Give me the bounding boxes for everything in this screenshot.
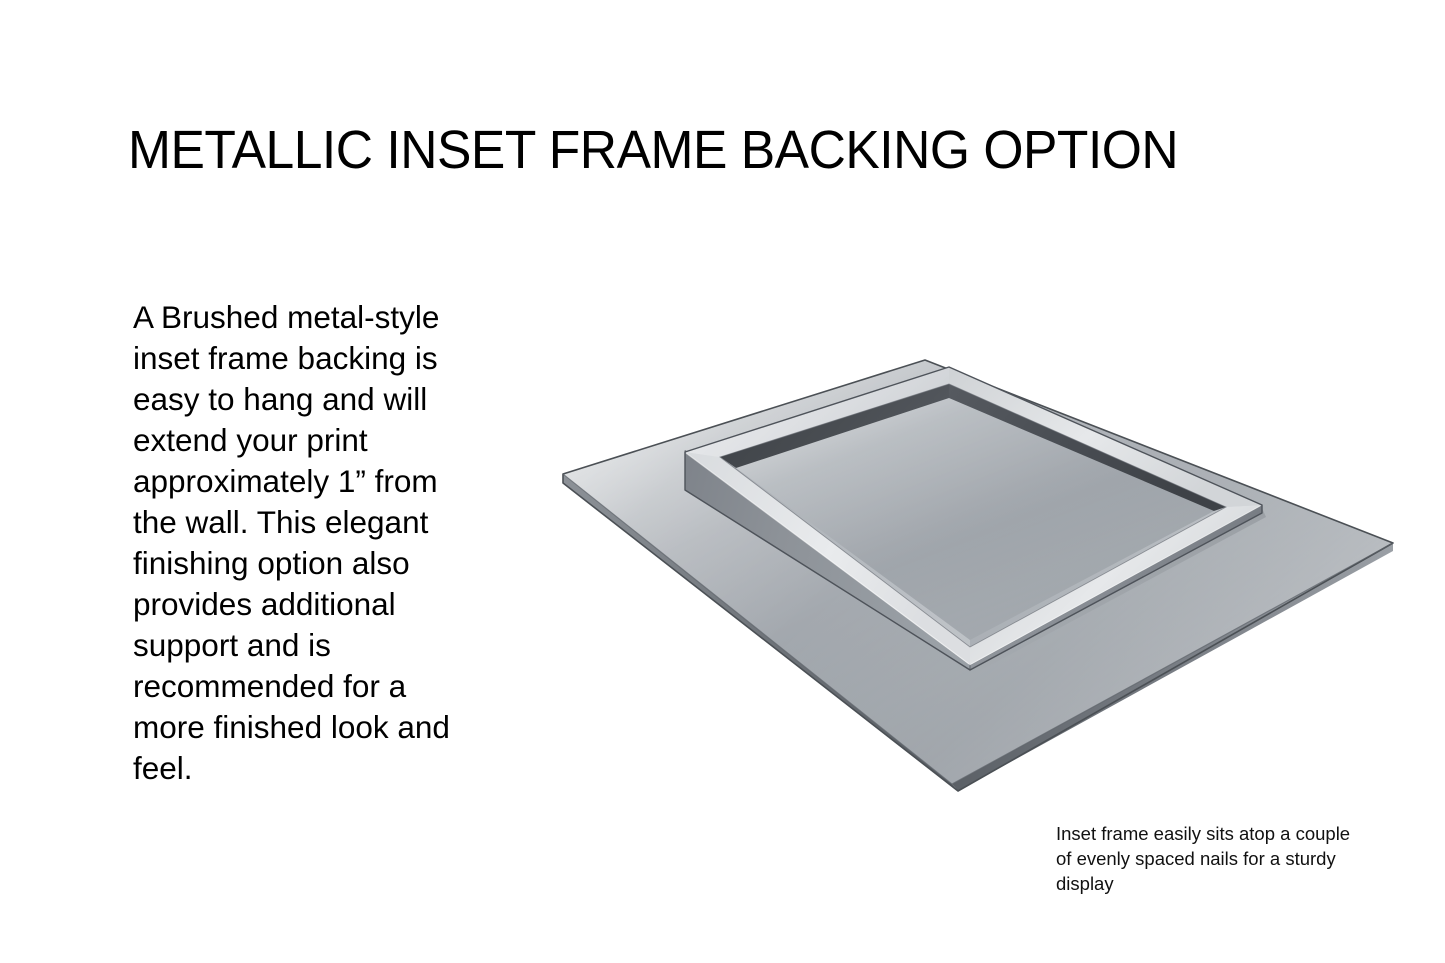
inset-frame-diagram-svg <box>540 335 1420 815</box>
body-paragraph: A Brushed metal-style inset frame backin… <box>133 297 485 789</box>
slide-canvas: METALLIC INSET FRAME BACKING OPTION A Br… <box>0 0 1445 963</box>
illustration-caption: Inset frame easily sits atop a couple of… <box>1056 821 1366 896</box>
page-title: METALLIC INSET FRAME BACKING OPTION <box>128 122 1274 179</box>
metallic-inset-frame-illustration <box>540 335 1420 815</box>
